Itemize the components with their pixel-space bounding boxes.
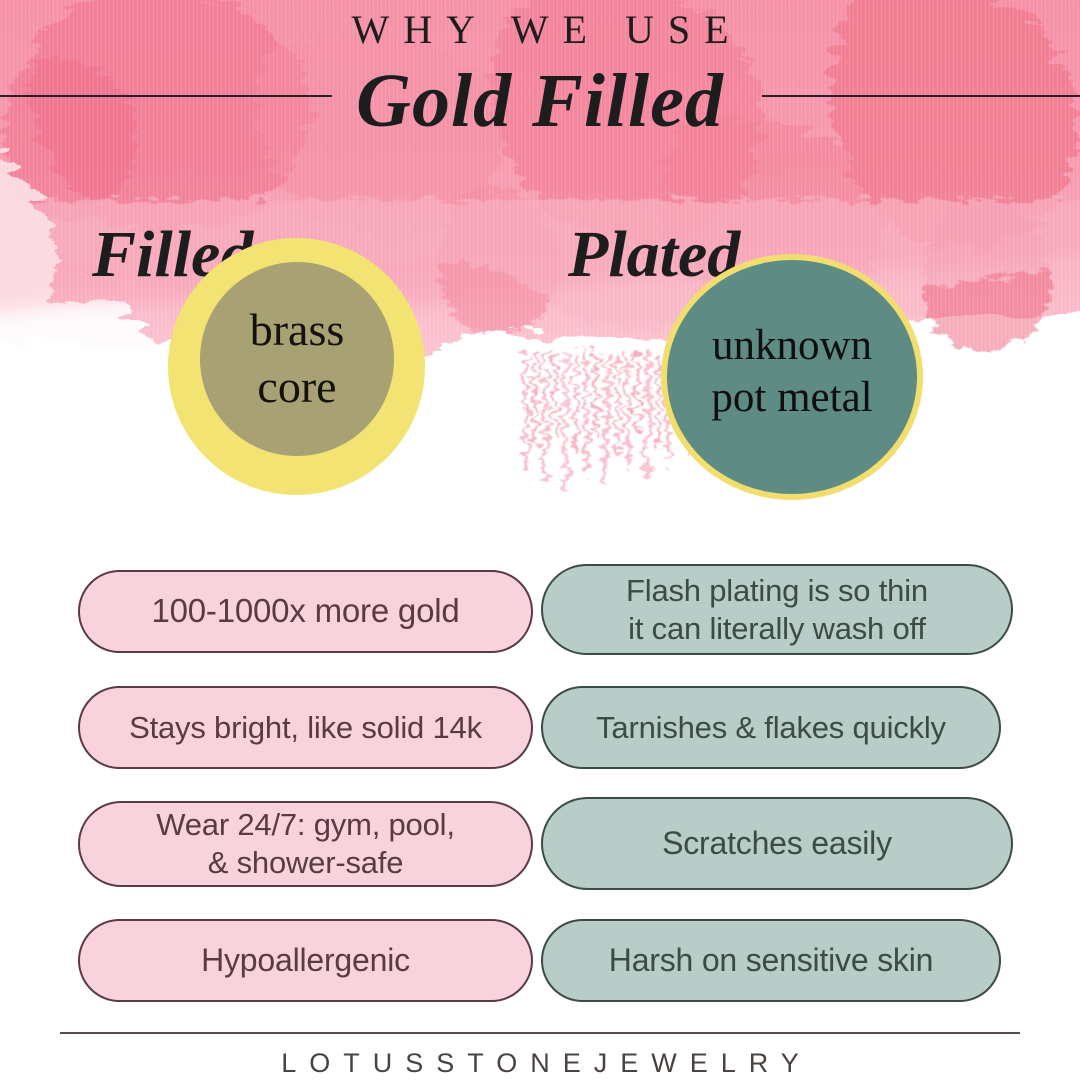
- pill-filled-row-1: 100-1000x more gold: [78, 570, 533, 653]
- pill-filled-row-4: Hypoallergenic: [78, 919, 533, 1002]
- pill-filled-row-1-text: 100-1000x more gold: [151, 591, 459, 631]
- pill-plated-row-1-line1: Flash plating is so thin: [626, 573, 928, 608]
- plated-core-label-line2: pot metal: [711, 374, 872, 421]
- pill-filled-row-2-text: Stays bright, like solid 14k: [129, 709, 482, 747]
- pill-plated-row-1-text: Flash plating is so thin it can literall…: [626, 572, 928, 648]
- pill-plated-row-1-line2: it can literally wash off: [628, 611, 926, 646]
- pill-filled-row-3: Wear 24/7: gym, pool, & shower-safe: [78, 801, 533, 887]
- pill-plated-row-2-text: Tarnishes & flakes quickly: [596, 709, 946, 747]
- filled-core-label: brass core: [250, 301, 345, 416]
- plated-core-label: unknown pot metal: [711, 320, 872, 425]
- pill-plated-row-4-text: Harsh on sensitive skin: [609, 941, 933, 980]
- plated-pot-metal-circle: unknown pot metal: [661, 254, 923, 500]
- pill-filled-row-4-text: Hypoallergenic: [201, 941, 410, 980]
- pill-plated-row-4: Harsh on sensitive skin: [541, 919, 1001, 1002]
- page-title: Gold Filled: [0, 58, 1080, 145]
- infographic-canvas: WHY WE USE Gold Filled Filled Plated bra…: [0, 0, 1080, 1080]
- pill-filled-row-3-line2: & shower-safe: [208, 845, 404, 880]
- pill-plated-row-1: Flash plating is so thin it can literall…: [541, 564, 1013, 655]
- pill-filled-row-3-line1: Wear 24/7: gym, pool,: [156, 807, 455, 842]
- header-kicker: WHY WE USE: [0, 8, 1080, 52]
- footer-divider: [60, 1032, 1020, 1034]
- filled-brass-core: brass core: [200, 262, 394, 456]
- brand-name: LOTUSSTONEJEWELRY: [0, 1048, 1080, 1079]
- pill-plated-row-3: Scratches easily: [541, 797, 1013, 890]
- pill-plated-row-3-text: Scratches easily: [662, 824, 892, 863]
- pill-filled-row-3-text: Wear 24/7: gym, pool, & shower-safe: [156, 806, 455, 882]
- pill-plated-row-2: Tarnishes & flakes quickly: [541, 686, 1001, 769]
- filled-core-label-line1: brass: [250, 304, 345, 355]
- filled-core-label-line2: core: [257, 361, 336, 412]
- pill-filled-row-2: Stays bright, like solid 14k: [78, 686, 533, 769]
- plated-core-label-line1: unknown: [712, 322, 872, 369]
